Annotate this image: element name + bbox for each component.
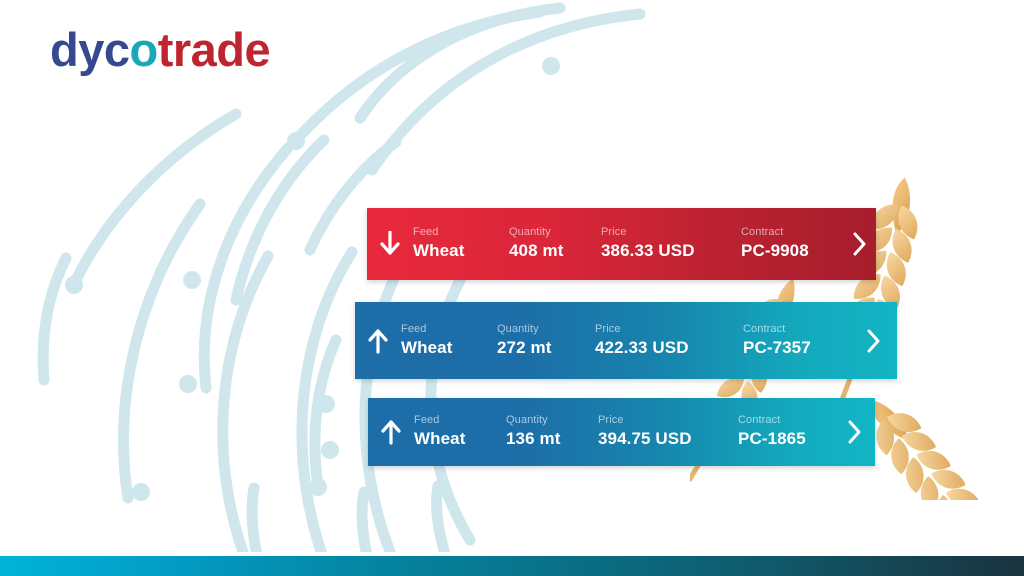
card-1-feed-column: Feed Wheat [413, 226, 509, 261]
feed-label: Feed [413, 226, 509, 240]
bottom-accent-bar [0, 556, 1024, 576]
chevron-right-icon[interactable] [837, 231, 883, 257]
price-value: 422.33 USD [595, 338, 743, 358]
card-3-contract-column: Contract PC-1865 [738, 414, 832, 449]
logo-part-dyc: dyc [50, 26, 130, 73]
logo-part-o: o [130, 26, 158, 73]
card-1-quantity-column: Quantity 408 mt [509, 226, 601, 261]
quantity-value: 272 mt [497, 338, 595, 358]
brand-logo: dycotrade [50, 26, 270, 73]
arrow-up-icon [355, 328, 401, 354]
price-value: 386.33 USD [601, 241, 741, 261]
contract-label: Contract [741, 226, 837, 240]
chevron-right-icon[interactable] [851, 328, 897, 354]
contract-value: PC-1865 [738, 429, 832, 449]
trade-card-3[interactable]: Feed Wheat Quantity 136 mt Price 394.75 … [368, 398, 875, 466]
trade-card-1[interactable]: Feed Wheat Quantity 408 mt Price 386.33 … [367, 208, 876, 280]
card-1-price-column: Price 386.33 USD [601, 226, 741, 261]
contract-label: Contract [743, 323, 843, 337]
trade-card-2[interactable]: Feed Wheat Quantity 272 mt Price 422.33 … [355, 302, 897, 379]
arrow-up-icon [368, 419, 414, 445]
quantity-label: Quantity [497, 323, 595, 337]
feed-value: Wheat [414, 429, 506, 449]
quantity-label: Quantity [509, 226, 601, 240]
price-label: Price [601, 226, 741, 240]
price-label: Price [595, 323, 743, 337]
arrow-down-icon [367, 231, 413, 257]
card-3-price-column: Price 394.75 USD [598, 414, 738, 449]
card-2-feed-column: Feed Wheat [401, 323, 497, 358]
logo-part-trade: trade [158, 26, 270, 73]
feed-label: Feed [414, 414, 506, 428]
quantity-value: 408 mt [509, 241, 601, 261]
contract-value: PC-9908 [741, 241, 837, 261]
card-2-quantity-column: Quantity 272 mt [497, 323, 595, 358]
feed-value: Wheat [401, 338, 497, 358]
contract-label: Contract [738, 414, 832, 428]
quantity-value: 136 mt [506, 429, 598, 449]
hero-canvas: dycotrade Feed Wheat Quantity 408 mt Pri… [0, 0, 1024, 576]
feed-value: Wheat [413, 241, 509, 261]
card-1-contract-column: Contract PC-9908 [741, 226, 837, 261]
card-3-feed-column: Feed Wheat [414, 414, 506, 449]
card-2-price-column: Price 422.33 USD [595, 323, 743, 358]
quantity-label: Quantity [506, 414, 598, 428]
card-3-quantity-column: Quantity 136 mt [506, 414, 598, 449]
card-2-contract-column: Contract PC-7357 [743, 323, 843, 358]
contract-value: PC-7357 [743, 338, 843, 358]
price-value: 394.75 USD [598, 429, 738, 449]
price-label: Price [598, 414, 738, 428]
chevron-right-icon[interactable] [832, 419, 878, 445]
feed-label: Feed [401, 323, 497, 337]
